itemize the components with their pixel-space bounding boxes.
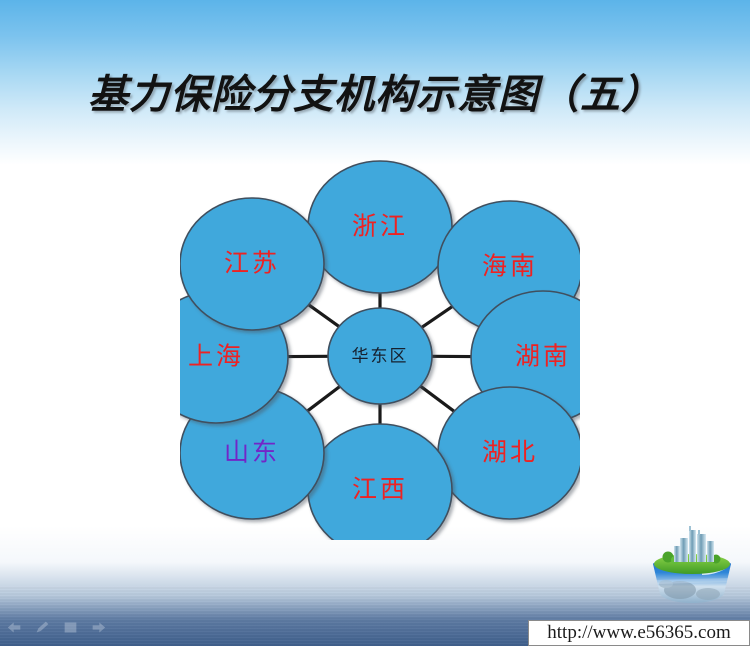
diagram-node-center[interactable]: 华东区 bbox=[328, 308, 432, 404]
slide-canvas: 基力保险分支机构示意图（五） 浙江海南湖南湖北江西山东上海江苏 华东区 bbox=[0, 0, 750, 646]
spoke-line-山东 bbox=[307, 386, 341, 412]
globe-skyscrapers bbox=[674, 526, 714, 562]
center-node-group: 华东区 bbox=[328, 308, 432, 404]
forward-arrow-icon bbox=[90, 620, 107, 635]
diagram-node-湖北[interactable]: 湖北 bbox=[438, 387, 580, 519]
globe-city-logo bbox=[646, 524, 738, 612]
spoke-line-江苏 bbox=[308, 304, 340, 327]
node-label: 上海 bbox=[188, 343, 244, 371]
node-label: 海南 bbox=[482, 253, 538, 281]
diagram-node-江西[interactable]: 江西 bbox=[308, 424, 452, 540]
org-chart-diagram: 浙江海南湖南湖北江西山东上海江苏 华东区 bbox=[180, 160, 580, 540]
node-label: 华东区 bbox=[352, 347, 409, 366]
node-label: 山东 bbox=[224, 439, 280, 467]
node-label: 江西 bbox=[352, 476, 408, 504]
diagram-svg: 浙江海南湖南湖北江西山东上海江苏 华东区 bbox=[180, 160, 580, 540]
pen-icon bbox=[34, 620, 51, 635]
site-url: http://www.e56365.com bbox=[547, 622, 730, 644]
back-arrow-icon bbox=[6, 620, 23, 635]
url-bar: http://www.e56365.com bbox=[528, 620, 750, 646]
diagram-node-浙江[interactable]: 浙江 bbox=[308, 161, 452, 293]
node-label: 江苏 bbox=[224, 250, 280, 278]
square-icon bbox=[62, 620, 79, 635]
spoke-line-湖北 bbox=[420, 386, 455, 412]
node-label: 浙江 bbox=[352, 213, 408, 241]
node-label: 湖北 bbox=[482, 439, 538, 467]
diagram-node-江苏[interactable]: 江苏 bbox=[180, 198, 324, 330]
node-label: 湖南 bbox=[515, 343, 571, 371]
watermark-icon-strip bbox=[6, 614, 126, 640]
spoke-line-海南 bbox=[421, 306, 453, 328]
page-title: 基力保险分支机构示意图（五） bbox=[0, 62, 750, 120]
